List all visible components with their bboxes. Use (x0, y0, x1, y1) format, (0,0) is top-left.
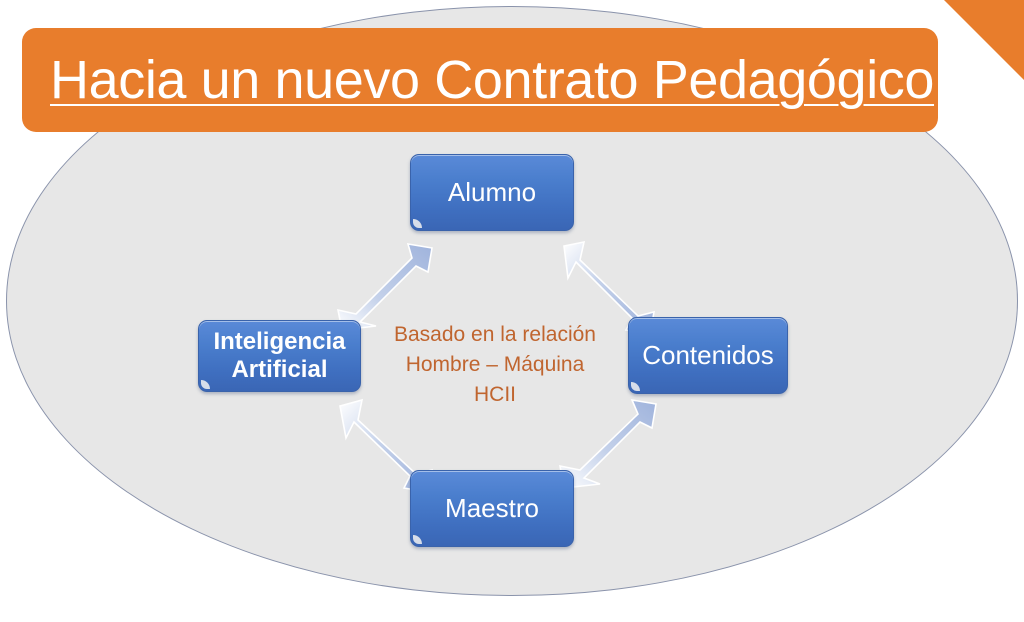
diagram-node-inteligencia-artificial[interactable]: Inteligencia Artificial (198, 320, 361, 392)
diagram-node-maestro[interactable]: Maestro (410, 470, 574, 547)
caption-line-2: Hombre – Máquina (372, 350, 618, 380)
diagram-node-contenidos[interactable]: Contenidos (628, 317, 788, 394)
caption-line-3: HCII (372, 380, 618, 410)
orange-corner-triangle-icon (944, 0, 1024, 80)
slide-canvas: Hacia un nuevo Contrato Pedagógico (0, 0, 1024, 622)
node-label-inteligencia-artificial: Inteligencia Artificial (213, 328, 345, 383)
node-label-line2: Artificial (231, 356, 327, 383)
caption-line-1: Basado en la relación (372, 320, 618, 350)
node-label-alumno: Alumno (448, 178, 536, 208)
node-label-line1: Inteligencia (213, 328, 345, 355)
diagram-node-alumno[interactable]: Alumno (410, 154, 574, 231)
center-caption: Basado en la relación Hombre – Máquina H… (372, 320, 618, 409)
node-label-maestro: Maestro (445, 494, 539, 524)
node-label-contenidos: Contenidos (642, 341, 774, 371)
title-banner: Hacia un nuevo Contrato Pedagógico (22, 28, 938, 132)
page-title: Hacia un nuevo Contrato Pedagógico (50, 52, 934, 109)
